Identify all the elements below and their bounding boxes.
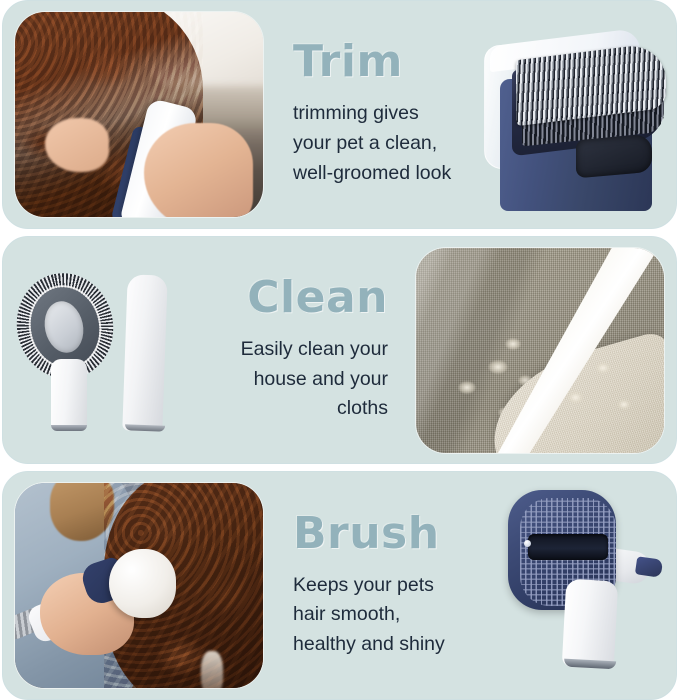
heading-brush: Brush xyxy=(293,512,440,557)
crevice-tube-base xyxy=(125,424,165,431)
brush-tool-head xyxy=(109,549,176,619)
text-block-trim: Trim trimming gives your pet a clean, we… xyxy=(275,40,486,188)
feature-panel-trim: Trim trimming gives your pet a clean, we… xyxy=(2,0,677,229)
product-image-brush-gun xyxy=(486,472,676,699)
hair-tuft xyxy=(505,338,521,350)
scene-fabric-pet-hair xyxy=(416,248,664,453)
feature-panel-clean: Clean Easily clean your house and your c… xyxy=(2,236,677,465)
text-block-clean: Clean Easily clean your house and your c… xyxy=(188,276,404,424)
product-feature-infographic: Trim trimming gives your pet a clean, we… xyxy=(0,0,679,700)
crevice-tube-nozzle xyxy=(122,274,167,431)
heading-clean: Clean xyxy=(247,276,388,321)
description-clean: Easily clean your house and your cloths xyxy=(241,335,388,424)
photo-trim xyxy=(15,12,263,217)
dog-white-patch xyxy=(201,651,223,688)
brush-gun-slot xyxy=(528,534,608,560)
scene-dog-brushing xyxy=(15,483,263,688)
brush-handle xyxy=(51,359,87,431)
trimmer-illustration xyxy=(484,27,677,205)
text-block-brush: Brush Keeps your pets hair smooth, healt… xyxy=(275,512,486,660)
product-image-trimmer xyxy=(486,1,676,228)
description-trim: trimming gives your pet a clean, well-gr… xyxy=(293,99,451,188)
brush-gun-handle xyxy=(562,579,619,670)
holding-hand-shape xyxy=(144,123,253,217)
supporting-hand-shape xyxy=(45,118,109,171)
brush-attachment-illustration xyxy=(17,271,187,431)
product-image-brush-attachments xyxy=(3,237,188,464)
brush-gun-illustration xyxy=(502,488,672,670)
brush-handle-base xyxy=(51,425,87,431)
photo-clean xyxy=(416,248,664,453)
feature-panel-brush: Brush Keeps your pets hair smooth, healt… xyxy=(2,471,677,700)
hair-tuft xyxy=(458,381,476,394)
heading-trim: Trim xyxy=(293,40,403,85)
scene-dog-trimming xyxy=(15,12,263,217)
photo-brush xyxy=(15,483,263,688)
description-brush: Keeps your pets hair smooth, healthy and… xyxy=(293,571,445,660)
hair-tuft xyxy=(595,362,611,374)
trimmer-pad xyxy=(576,134,652,179)
